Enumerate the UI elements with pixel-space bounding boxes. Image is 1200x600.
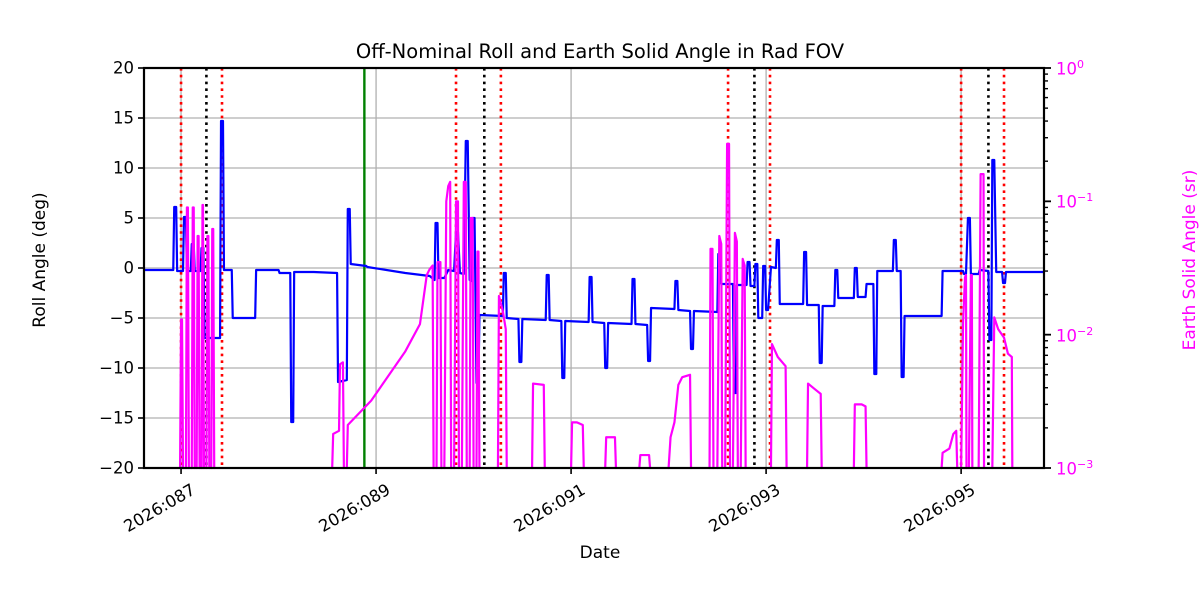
series-solid-angle-seg-10 [444, 182, 451, 468]
series-solid-angle-seg-23 [725, 144, 730, 468]
series-solid-angle-seg-17 [571, 422, 584, 468]
data-series [144, 121, 1044, 468]
series-solid-angle-seg-14 [477, 252, 480, 468]
series-solid-angle-seg-19 [639, 455, 650, 468]
series-solid-angle-seg-33 [992, 317, 1012, 468]
series-solid-angle-seg-16 [532, 384, 545, 468]
series-solid-angle-seg-18 [605, 437, 616, 468]
series-solid-angle-seg-28 [854, 404, 867, 468]
plot-area [0, 0, 1200, 600]
series-solid-angle-seg-27 [807, 384, 822, 468]
series-solid-angle-seg-6 [211, 229, 214, 468]
series-solid-angle-seg-25 [741, 259, 746, 468]
series-solid-angle-seg-12 [462, 182, 467, 468]
series-solid-angle-seg-26 [771, 344, 787, 468]
series-solid-angle-seg-20 [669, 375, 691, 468]
series-solid-angle-seg-4 [202, 205, 204, 468]
series-solid-angle-seg-29 [942, 431, 958, 468]
series-solid-angle-seg-9 [437, 262, 442, 468]
gridlines [144, 68, 1044, 468]
series-solid-angle-seg-15 [498, 296, 507, 468]
series-solid-angle-seg-8 [347, 266, 434, 468]
series-solid-angle-seg-21 [710, 249, 714, 468]
figure-canvas: Off-Nominal Roll and Earth Solid Angle i… [0, 0, 1200, 600]
series-solid-angle-seg-32 [979, 174, 984, 468]
series-roll-angle-seg-0 [144, 121, 1044, 422]
series-solid-angle-seg-30 [961, 275, 966, 468]
series-solid-angle-seg-5 [206, 236, 209, 468]
series-solid-angle-seg-2 [192, 207, 195, 468]
series-solid-angle-seg-1 [186, 207, 189, 468]
series-solid-angle-seg-31 [969, 275, 972, 468]
series-solid-angle-seg-3 [197, 236, 200, 468]
series-solid-angle-seg-22 [717, 236, 722, 468]
